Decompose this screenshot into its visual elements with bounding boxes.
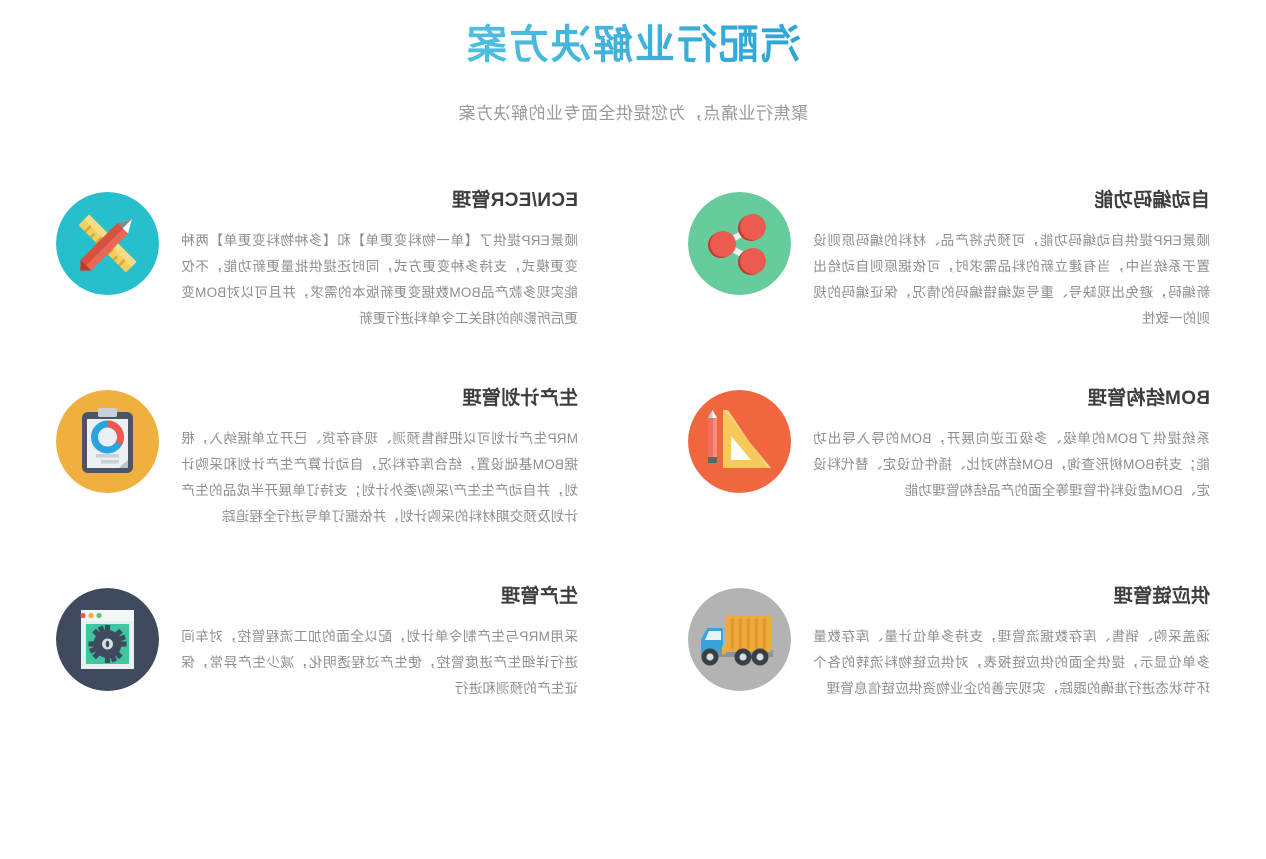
feature-description: 顺景ERP提供了【单一物料变更单】和【多种物料变更单】两种变更模式，支持多种变更… xyxy=(181,228,578,332)
feature-title: 生产计划管理 xyxy=(181,386,578,412)
feature-title: 自动编码功能 xyxy=(813,188,1210,214)
feature-title: 供应链管理 xyxy=(813,584,1210,610)
page-title: 汽配行业解决方案 xyxy=(0,14,1266,76)
feature-title: 生产管理 xyxy=(181,584,578,610)
pencil-ruler-icon xyxy=(56,192,159,295)
feature-title: ECN/ECR管理 xyxy=(181,188,578,214)
feature-description: 涵盖采购、销售、库存数据流管理，支持多单位计量、库存数量多单位显示，提供全面的供… xyxy=(813,624,1210,702)
feature-card-production-plan[interactable]: 生产计划管理 MRP生产计划可以把销售预测、现有存货、已开立单据纳入，根据BOM… xyxy=(56,386,578,530)
feature-grid: 自动编码功能 顺景ERP提供自动编码功能，可预先将产品、材料的编码原则设置于系统… xyxy=(0,188,1266,702)
feature-text: 自动编码功能 顺景ERP提供自动编码功能，可预先将产品、材料的编码原则设置于系统… xyxy=(813,188,1210,332)
feature-card-production[interactable]: 生产管理 采用MRP与生产制令单计划，配以全面的加工流程管控，对车间进行详细生产… xyxy=(56,584,578,702)
delivery-truck-icon xyxy=(688,588,791,691)
share-nodes-icon xyxy=(688,192,791,295)
clipboard-chart-icon xyxy=(56,390,159,493)
feature-card-ecn-ecr[interactable]: ECN/ECR管理 顺景ERP提供了【单一物料变更单】和【多种物料变更单】两种变… xyxy=(56,188,578,332)
feature-title: BOM结构管理 xyxy=(813,386,1210,412)
triangle-ruler-pencil-icon xyxy=(688,390,791,493)
feature-text: 生产计划管理 MRP生产计划可以把销售预测、现有存货、已开立单据纳入，根据BOM… xyxy=(181,386,578,530)
feature-text: ECN/ECR管理 顺景ERP提供了【单一物料变更单】和【多种物料变更单】两种变… xyxy=(181,188,578,332)
window-gear-icon xyxy=(56,588,159,691)
page-header: 汽配行业解决方案 聚焦行业痛点，为您提供全面专业的解决方案 xyxy=(0,0,1266,126)
feature-description: MRP生产计划可以把销售预测、现有存货、已开立单据纳入，根据BOM基础设置，结合… xyxy=(181,426,578,530)
feature-card-bom-structure[interactable]: BOM结构管理 系统提供了BOM的单级、多级正逆向展开，BOM的导入导出功能；支… xyxy=(688,386,1210,530)
feature-description: 采用MRP与生产制令单计划，配以全面的加工流程管控，对车间进行详细生产进度管控，… xyxy=(181,624,578,702)
feature-description: 系统提供了BOM的单级、多级正逆向展开，BOM的导入导出功能；支持BOM树形查询… xyxy=(813,426,1210,504)
page-subtitle: 聚焦行业痛点，为您提供全面专业的解决方案 xyxy=(0,102,1266,126)
feature-text: 供应链管理 涵盖采购、销售、库存数据流管理，支持多单位计量、库存数量多单位显示，… xyxy=(813,584,1210,702)
feature-card-supply-chain[interactable]: 供应链管理 涵盖采购、销售、库存数据流管理，支持多单位计量、库存数量多单位显示，… xyxy=(688,584,1210,702)
feature-text: 生产管理 采用MRP与生产制令单计划，配以全面的加工流程管控，对车间进行详细生产… xyxy=(181,584,578,702)
feature-card-auto-coding[interactable]: 自动编码功能 顺景ERP提供自动编码功能，可预先将产品、材料的编码原则设置于系统… xyxy=(688,188,1210,332)
feature-text: BOM结构管理 系统提供了BOM的单级、多级正逆向展开，BOM的导入导出功能；支… xyxy=(813,386,1210,504)
feature-description: 顺景ERP提供自动编码功能，可预先将产品、材料的编码原则设置于系统当中，当有建立… xyxy=(813,228,1210,332)
page-root: 汽配行业解决方案 聚焦行业痛点，为您提供全面专业的解决方案 自动 xyxy=(0,0,1266,859)
